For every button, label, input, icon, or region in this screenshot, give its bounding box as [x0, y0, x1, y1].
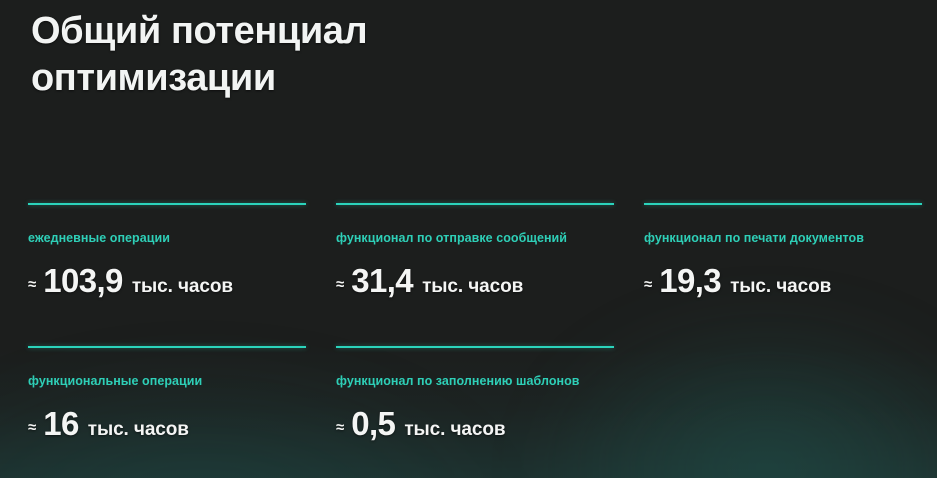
- approximately-equal-icon: ≈: [336, 277, 344, 292]
- metric-number: 19,3: [659, 264, 721, 297]
- metric-unit: тыс. часов: [422, 277, 523, 296]
- metric-accent-rule: [28, 203, 306, 205]
- metric-label: функционал по заполнению шаблонов: [336, 372, 614, 390]
- metric-card-daily-operations: ежедневные операции ≈ 103,9 тыс. часов: [28, 203, 306, 297]
- metric-label: функциональные операции: [28, 372, 306, 390]
- metric-unit: тыс. часов: [404, 420, 505, 439]
- metric-unit: тыс. часов: [730, 277, 831, 296]
- metric-number: 103,9: [43, 264, 123, 297]
- metric-value: ≈ 16 тыс. часов: [28, 407, 306, 440]
- metric-accent-rule: [336, 346, 614, 348]
- metric-value: ≈ 103,9 тыс. часов: [28, 264, 306, 297]
- metric-label: ежедневные операции: [28, 229, 306, 247]
- metric-card-message-sending: функционал по отправке сообщений ≈ 31,4 …: [336, 203, 614, 297]
- metric-card-functional-operations: функциональные операции ≈ 16 тыс. часов: [28, 346, 306, 440]
- metric-unit: тыс. часов: [88, 420, 189, 439]
- slide-root: Общий потенциал оптимизации ежедневные о…: [0, 0, 937, 478]
- metric-accent-rule: [644, 203, 922, 205]
- metric-label: функционал по отправке сообщений: [336, 229, 614, 247]
- metric-card-document-printing: функционал по печати документов ≈ 19,3 т…: [644, 203, 922, 297]
- metric-value: ≈ 31,4 тыс. часов: [336, 264, 614, 297]
- metric-unit: тыс. часов: [132, 277, 233, 296]
- approximately-equal-icon: ≈: [28, 420, 36, 435]
- metric-number: 31,4: [351, 264, 413, 297]
- metric-number: 16: [43, 407, 79, 440]
- page-title: Общий потенциал оптимизации: [31, 8, 631, 102]
- metric-number: 0,5: [351, 407, 395, 440]
- metric-value: ≈ 19,3 тыс. часов: [644, 264, 922, 297]
- metrics-grid: ежедневные операции ≈ 103,9 тыс. часов ф…: [28, 203, 922, 440]
- metric-accent-rule: [336, 203, 614, 205]
- metric-label: функционал по печати документов: [644, 229, 922, 247]
- approximately-equal-icon: ≈: [28, 277, 36, 292]
- metric-accent-rule: [28, 346, 306, 348]
- slide-content: Общий потенциал оптимизации ежедневные о…: [0, 0, 937, 478]
- approximately-equal-icon: ≈: [644, 277, 652, 292]
- metric-value: ≈ 0,5 тыс. часов: [336, 407, 614, 440]
- approximately-equal-icon: ≈: [336, 420, 344, 435]
- metric-card-template-filling: функционал по заполнению шаблонов ≈ 0,5 …: [336, 346, 614, 440]
